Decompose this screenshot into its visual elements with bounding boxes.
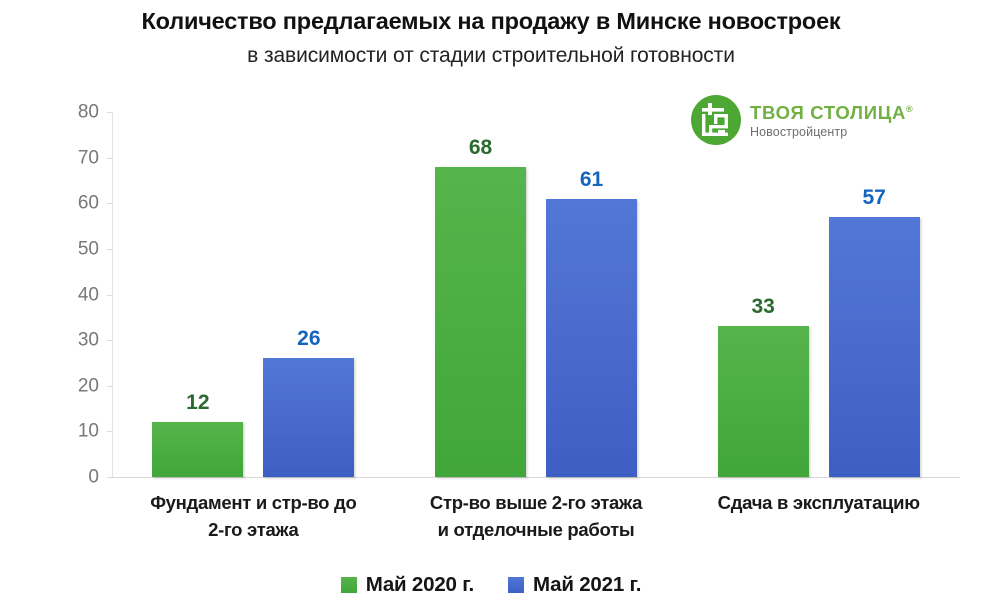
chart-legend: Май 2020 г.Май 2021 г. xyxy=(0,575,982,596)
x-axis-category-label: Стр-во выше 2-го этажаи отделочные работ… xyxy=(395,490,678,544)
bar-column[interactable]: 33 xyxy=(718,112,809,477)
legend-item[interactable]: Май 2020 г. xyxy=(341,575,474,596)
legend-swatch-icon xyxy=(341,577,357,593)
legend-label: Май 2021 г. xyxy=(533,575,641,596)
category-label-line: Сдача в эксплуатацию xyxy=(679,490,958,517)
x-axis-line xyxy=(112,477,960,478)
y-axis-tick-label: 70 xyxy=(78,148,99,167)
bar-group: 3357 xyxy=(677,112,960,477)
bar-value-label: 33 xyxy=(751,296,774,317)
legend-label: Май 2020 г. xyxy=(366,575,474,596)
bar[interactable] xyxy=(546,199,637,477)
y-axis-tick-mark xyxy=(107,477,112,478)
bar[interactable] xyxy=(718,326,809,477)
bar[interactable] xyxy=(152,422,243,477)
bar-value-label: 26 xyxy=(297,328,320,349)
x-axis-category-label: Сдача в эксплуатацию xyxy=(677,490,960,544)
bar-group: 1226 xyxy=(112,112,395,477)
y-axis-tick-label: 80 xyxy=(78,103,99,122)
bar-column[interactable]: 12 xyxy=(152,112,243,477)
bar-value-label: 57 xyxy=(862,187,885,208)
category-label-line: и отделочные работы xyxy=(397,517,676,544)
bar[interactable] xyxy=(435,167,526,477)
bar[interactable] xyxy=(829,217,920,477)
chart-container: Количество предлагаемых на продажу в Мин… xyxy=(0,0,982,615)
bar-column[interactable]: 61 xyxy=(546,112,637,477)
category-label-line: 2-го этажа xyxy=(114,517,393,544)
legend-item[interactable]: Май 2021 г. xyxy=(508,575,641,596)
y-axis-tick-label: 30 xyxy=(78,331,99,350)
bar-column[interactable]: 68 xyxy=(435,112,526,477)
bar-groups: 122668613357 xyxy=(112,112,960,477)
bar-value-label: 68 xyxy=(469,137,492,158)
category-label-line: Фундамент и стр-во до xyxy=(114,490,393,517)
category-label-line: Стр-во выше 2-го этажа xyxy=(397,490,676,517)
legend-swatch-icon xyxy=(508,577,524,593)
y-axis-tick-label: 60 xyxy=(78,194,99,213)
bar-group: 6861 xyxy=(395,112,678,477)
y-axis-tick-label: 0 xyxy=(88,468,99,487)
bar-column[interactable]: 57 xyxy=(829,112,920,477)
x-axis-category-labels: Фундамент и стр-во до2-го этажаСтр-во вы… xyxy=(112,490,960,544)
bar-value-label: 61 xyxy=(580,169,603,190)
bar-column[interactable]: 26 xyxy=(263,112,354,477)
chart-title: Количество предлагаемых на продажу в Мин… xyxy=(0,8,982,35)
y-axis-tick-label: 40 xyxy=(78,285,99,304)
chart-subtitle: в зависимости от стадии строительной гот… xyxy=(0,44,982,68)
y-axis-tick-label: 20 xyxy=(78,376,99,395)
bar[interactable] xyxy=(263,358,354,477)
x-axis-category-label: Фундамент и стр-во до2-го этажа xyxy=(112,490,395,544)
chart-header: Количество предлагаемых на продажу в Мин… xyxy=(0,8,982,68)
y-axis-tick-label: 50 xyxy=(78,239,99,258)
plot-area: 80706050403020100 122668613357 xyxy=(112,112,960,477)
bar-value-label: 12 xyxy=(186,392,209,413)
y-axis-tick-label: 10 xyxy=(78,422,99,441)
